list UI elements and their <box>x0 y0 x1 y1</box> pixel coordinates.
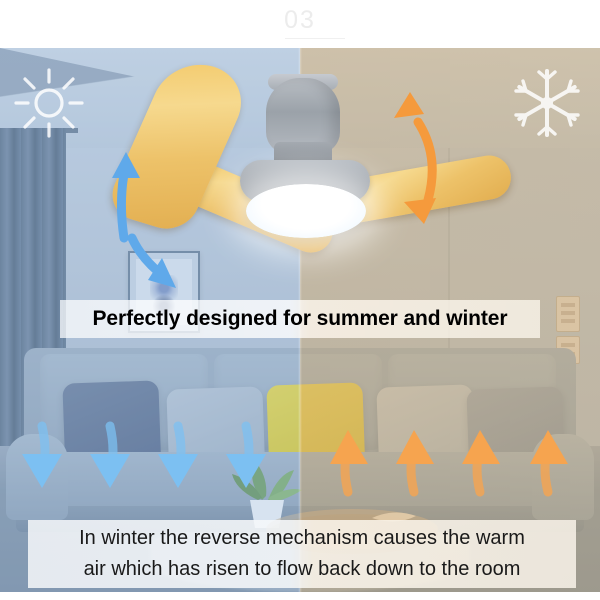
fan-led-light <box>246 184 366 238</box>
caption-line-2: air which has risen to flow back down to… <box>84 554 521 585</box>
snowflake-icon <box>510 66 584 140</box>
header-divider <box>285 38 345 39</box>
caption-line-1: In winter the reverse mechanism causes t… <box>79 523 525 554</box>
product-infographic: 03 <box>0 0 600 600</box>
section-number: 03 <box>0 6 600 34</box>
scene: Perfectly designed for summer and winter… <box>0 48 600 592</box>
bottom-strip <box>0 592 600 600</box>
header-bar: 03 <box>0 0 600 48</box>
ceiling-fan <box>128 56 478 256</box>
headline-text: Perfectly designed for summer and winter <box>93 307 508 331</box>
headline-banner: Perfectly designed for summer and winter <box>60 300 540 338</box>
sun-icon <box>12 66 86 140</box>
caption-box: In winter the reverse mechanism causes t… <box>28 520 576 588</box>
